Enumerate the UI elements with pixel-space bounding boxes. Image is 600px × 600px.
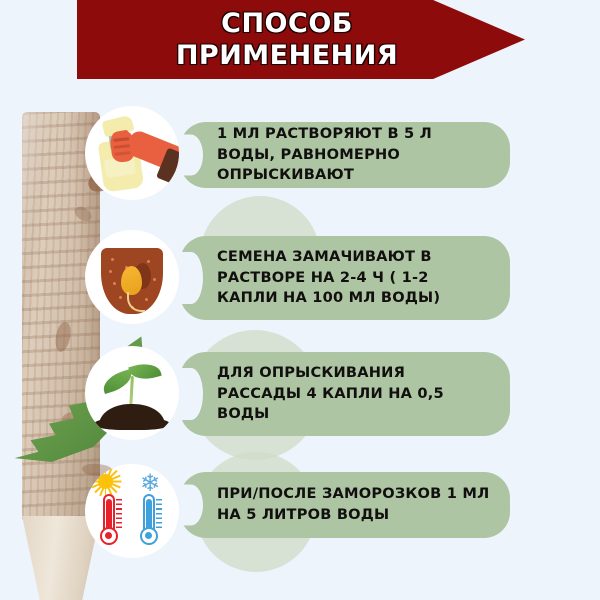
step-card-3: ДЛЯ ОПРЫСКИВАНИЯ РАССАДЫ 4 КАПЛИ НА 0,5 …: [180, 352, 510, 436]
page-title: СПОСОБ ПРИМЕНЕНИЯ: [123, 8, 479, 72]
spray-bottle-in-hand-icon: [85, 106, 179, 200]
hand-icon: [109, 131, 134, 163]
step-text-2: СЕМЕНА ЗАМАЧИВАЮТ В РАСТВОРЕ НА 2-4 Ч ( …: [180, 247, 510, 309]
seedling-sprout-icon: [85, 346, 179, 440]
step-card-2: СЕМЕНА ЗАМАЧИВАЮТ В РАСТВОРЕ НА 2-4 Ч ( …: [180, 236, 510, 320]
soil-mound-icon: [99, 404, 165, 430]
step-text-3: ДЛЯ ОПРЫСКИВАНИЯ РАССАДЫ 4 КАПЛИ НА 0,5 …: [180, 363, 510, 425]
step-card-4: ПРИ/ПОСЛЕ ЗАМОРОЗКОВ 1 МЛ НА 5 ЛИТРОВ ВО…: [180, 472, 510, 538]
bark-knot: [54, 321, 72, 353]
bark-knot: [72, 204, 94, 225]
header-banner: СПОСОБ ПРИМЕНЕНИЯ: [77, 0, 525, 79]
step-text-1: 1 МЛ РАСТВОРЯЮТ В 5 Л ВОДЫ, РАВНОМЕРНО О…: [180, 124, 510, 186]
infographic-poster: СПОСОБ ПРИМЕНЕНИЯ 1 МЛ РАСТВОРЯЮТ В 5 Л …: [0, 0, 600, 600]
cold-thermometer-icon: [137, 494, 161, 548]
seed-in-soil-icon: [85, 230, 179, 324]
step-card-1: 1 МЛ РАСТВОРЯЮТ В 5 Л ВОДЫ, РАВНОМЕРНО О…: [180, 122, 510, 188]
snowflake-icon: ❄: [138, 471, 162, 495]
sun-icon: [98, 474, 113, 489]
step-text-4: ПРИ/ПОСЛЕ ЗАМОРОЗКОВ 1 МЛ НА 5 ЛИТРОВ ВО…: [180, 484, 510, 525]
hot-cold-thermometers-icon: ❄: [85, 464, 179, 558]
hot-thermometer-icon: [97, 494, 121, 548]
seed-icon: [121, 266, 142, 295]
